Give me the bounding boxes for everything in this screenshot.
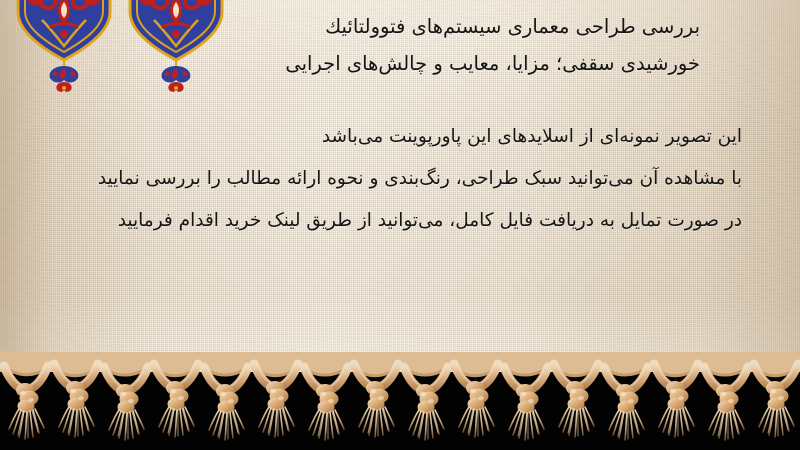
slide-canvas: بررسی طراحی معماری سیستم‌های فتوولتائیك … — [0, 0, 800, 450]
carpet-tassel-fringe — [0, 352, 800, 450]
persian-medallion-ornament-left — [8, 0, 120, 92]
slide-title: بررسی طراحی معماری سیستم‌های فتوولتائیك … — [160, 8, 700, 82]
body-line-2: با مشاهده آن می‌توانید سبک طراحی، رنگ‌بن… — [42, 158, 742, 200]
body-line-3: در صورت تمایل به دریافت فایل کامل، می‌تو… — [42, 200, 742, 242]
slide-title-line-1: بررسی طراحی معماری سیستم‌های فتوولتائیك — [160, 8, 700, 45]
body-line-1: این تصویر نمونه‌ای از اسلایدهای این پاور… — [42, 116, 742, 158]
slide-title-line-2: خورشیدی سقفی؛ مزایا، معایب و چالش‌های اج… — [160, 45, 700, 82]
slide-body-text: این تصویر نمونه‌ای از اسلایدهای این پاور… — [42, 116, 742, 242]
